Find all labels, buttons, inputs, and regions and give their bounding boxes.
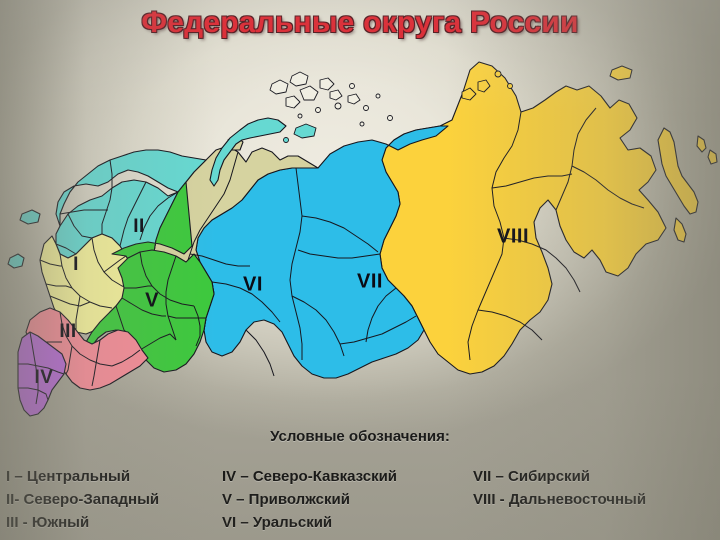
- region-northwest-island-small[interactable]: [20, 210, 40, 224]
- legend-item-northwest: II- Северо-Западный: [6, 489, 159, 512]
- arctic-islands-northwest: [284, 124, 317, 143]
- arctic-islands: [270, 72, 393, 126]
- page-title: Федеральные округа России: [0, 6, 720, 40]
- map-label-south: III: [59, 321, 76, 343]
- region-fareast-sakhalin[interactable]: [658, 128, 698, 214]
- region-fareast-island-b[interactable]: [708, 150, 717, 164]
- russia-federal-districts-map: [0, 0, 720, 440]
- map-label-northwest: II: [133, 216, 145, 238]
- region-northwest-kaliningrad[interactable]: [8, 254, 24, 268]
- legend-item-urals: VI – Уральский: [222, 512, 397, 535]
- legend-item-siberia: VII – Сибирский: [473, 466, 646, 489]
- map-label-urals: VI: [243, 274, 263, 297]
- map-label-north-caucasus: IV: [35, 367, 54, 389]
- map-label-volga: V: [145, 290, 159, 313]
- fareast-island-wrangel[interactable]: [610, 66, 632, 80]
- legend-column-1: I – Центральный II- Северо-Западный III …: [6, 466, 159, 534]
- map-label-fareast: VIII: [497, 226, 529, 249]
- legend-item-north-caucasus: IV – Северо-Кавказский: [222, 466, 397, 489]
- map-label-central: I: [73, 254, 79, 276]
- legend-heading: Условные обозначения:: [0, 428, 720, 445]
- legend-item-south: III - Южный: [6, 512, 159, 535]
- legend-item-fareast: VIII - Дальневосточный: [473, 489, 646, 512]
- legend-column-2: IV – Северо-Кавказский V – Приволжский V…: [222, 466, 397, 534]
- map-label-siberia: VII: [357, 271, 383, 294]
- region-fareast-island-a[interactable]: [697, 136, 706, 152]
- legend-item-volga: V – Приволжский: [222, 489, 397, 512]
- legend-item-central: I – Центральный: [6, 466, 159, 489]
- slide-canvas: Федеральные округа России I II III IV V …: [0, 0, 720, 540]
- legend-column-3: VII – Сибирский VIII - Дальневосточный: [473, 466, 646, 512]
- region-fareast-kamchatka-tip[interactable]: [674, 218, 686, 242]
